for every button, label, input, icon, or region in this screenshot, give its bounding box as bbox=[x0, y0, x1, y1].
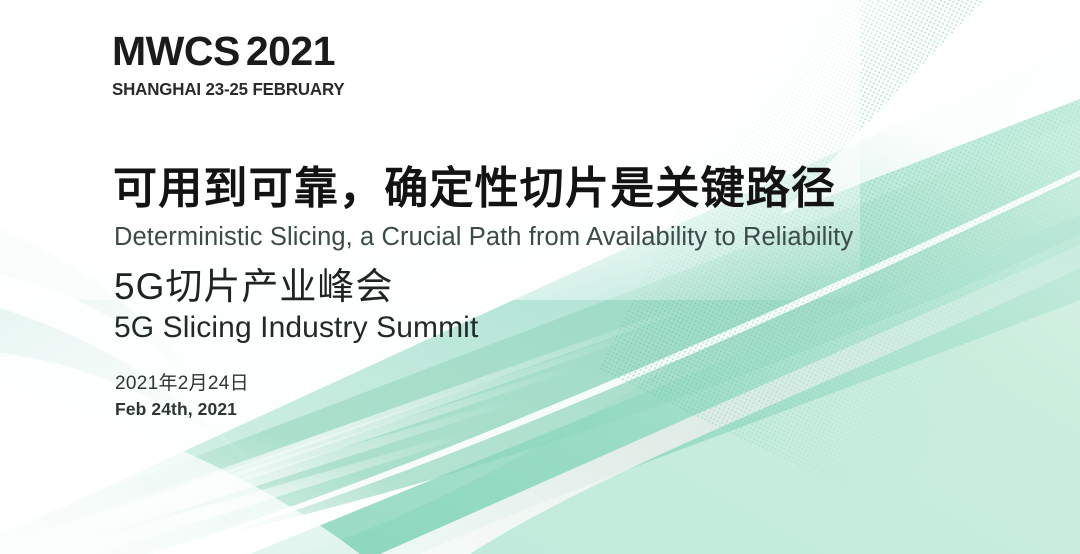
logo-wordmark-main: MWCS bbox=[112, 28, 240, 74]
headline-english: Deterministic Slicing, a Crucial Path fr… bbox=[114, 222, 853, 253]
summit-name-chinese: 5G切片产业峰会 bbox=[114, 268, 393, 307]
headline-chinese: 可用到可靠，确定性切片是关键路径 bbox=[113, 167, 836, 211]
logo-wordmark-year: 2021 bbox=[246, 28, 335, 74]
event-date-english: Feb 24th, 2021 bbox=[115, 399, 237, 420]
logo-subline: SHANGHAI 23-25 FEBRUARY bbox=[112, 79, 345, 100]
mwcs-logo: MWCS2021 SHANGHAI 23-25 FEBRUARY bbox=[112, 31, 353, 100]
summit-name-english: 5G Slicing Industry Summit bbox=[114, 311, 478, 344]
conference-banner: MWCS2021 SHANGHAI 23-25 FEBRUARY 可用到可靠，确… bbox=[0, 0, 1080, 554]
event-date-chinese: 2021年2月24日 bbox=[115, 368, 249, 395]
banner-content: MWCS2021 SHANGHAI 23-25 FEBRUARY 可用到可靠，确… bbox=[0, 0, 1080, 554]
logo-wordmark: MWCS2021 bbox=[112, 31, 353, 72]
